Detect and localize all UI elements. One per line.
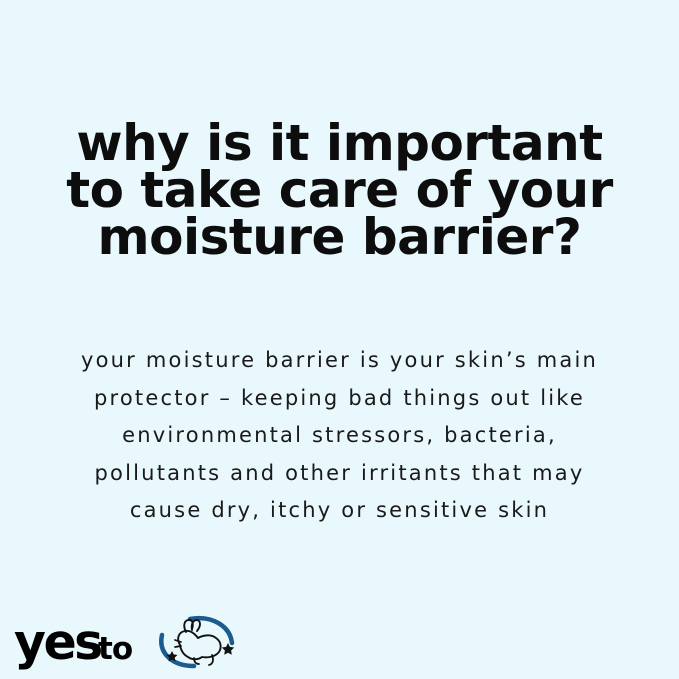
body-line-3: environmental stressors, bacteria,: [0, 417, 679, 455]
wordmark-primary-text: yes: [14, 615, 101, 671]
body-line-2: protector – keeping bad things out like: [0, 380, 679, 418]
body-copy: your moisture barrier is your skin’s mai…: [0, 342, 679, 530]
brand-logo-lockup: yes to: [14, 613, 238, 677]
wordmark-secondary-text: to: [98, 631, 132, 667]
leaping-bunny-cruelty-free-icon: [150, 613, 238, 671]
headline-line-2: to take care of your: [0, 167, 679, 214]
yesto-wordmark: yes to: [14, 615, 146, 677]
body-line-1: your moisture barrier is your skin’s mai…: [0, 342, 679, 380]
poster-canvas: why is it important to take care of your…: [0, 0, 679, 679]
headline-line-3: moisture barrier?: [0, 214, 679, 261]
body-line-4: pollutants and other irritants that may: [0, 455, 679, 493]
page-title: why is it important to take care of your…: [0, 120, 679, 261]
body-line-5: cause dry, itchy or sensitive skin: [0, 492, 679, 530]
headline-line-1: why is it important: [0, 120, 679, 167]
